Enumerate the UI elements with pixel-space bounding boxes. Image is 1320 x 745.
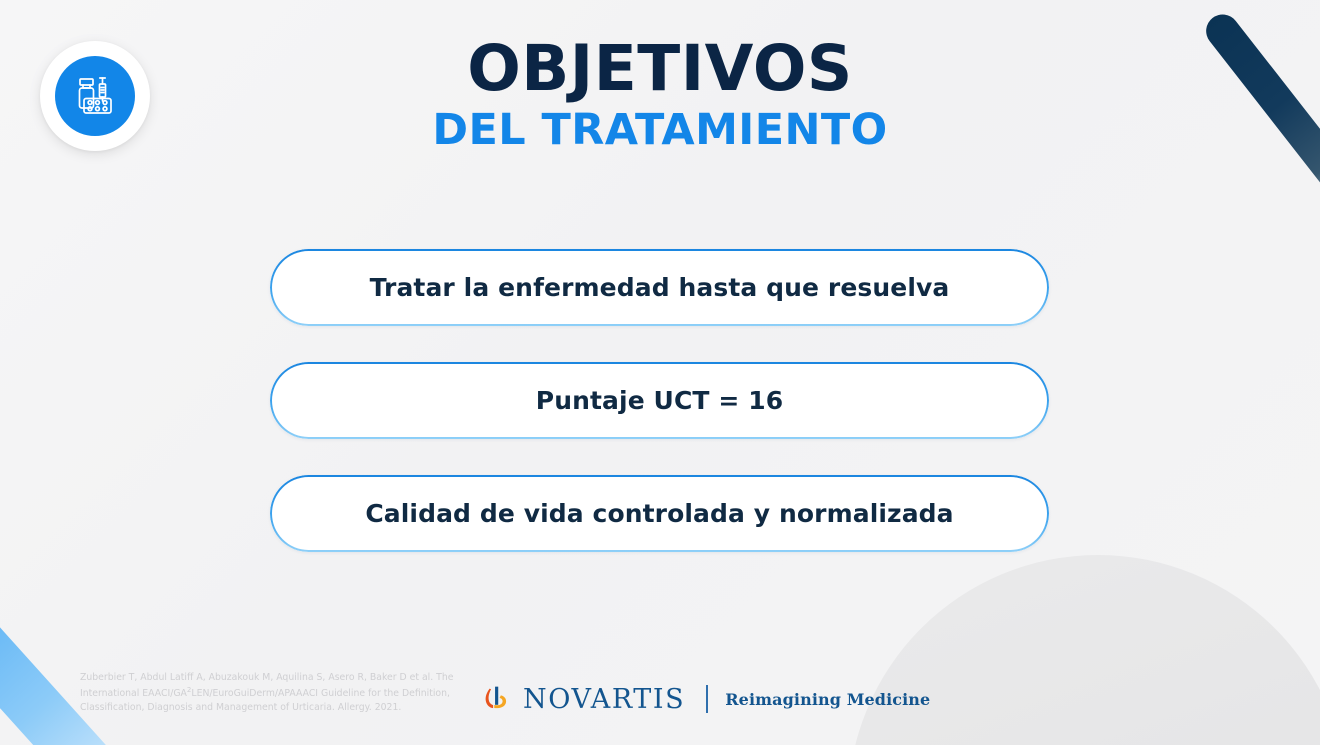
citation-line-1: Zuberbier T, Abdul Latiff A, Abuzakouk M… <box>80 672 453 683</box>
objective-label: Tratar la enfermedad hasta que resuelva <box>370 273 950 302</box>
objectives-list: Tratar la enfermedad hasta que resuelva … <box>270 249 1049 552</box>
objective-label: Puntaje UCT = 16 <box>536 386 783 415</box>
page-title-main: OBJETIVOS <box>0 36 1320 103</box>
objective-item-2: Puntaje UCT = 16 <box>270 362 1049 439</box>
objective-item-1: Tratar la enfermedad hasta que resuelva <box>270 249 1049 326</box>
citation-line-3: Classification, Diagnosis and Management… <box>80 702 401 713</box>
page-title: OBJETIVOS DEL TRATAMIENTO <box>0 36 1320 154</box>
objective-item-3: Calidad de vida controlada y normalizada <box>270 475 1049 552</box>
slide-canvas: OBJETIVOS DEL TRATAMIENTO Tratar la enfe… <box>0 0 1320 745</box>
logo-divider <box>706 685 708 713</box>
page-title-sub: DEL TRATAMIENTO <box>0 107 1320 154</box>
objective-label: Calidad de vida controlada y normalizada <box>365 499 953 528</box>
citation-line-2-pre: International EAACI/GA <box>80 688 187 699</box>
novartis-flame-icon <box>482 684 512 714</box>
citation-line-2-post: LEN/EuroGuiDerm/APAAACI Guideline for th… <box>191 688 450 699</box>
novartis-tagline: Reimagining Medicine <box>725 690 930 709</box>
novartis-wordmark: NOVARTIS <box>523 684 685 715</box>
reference-citation: Zuberbier T, Abdul Latiff A, Abuzakouk M… <box>80 671 472 715</box>
novartis-logo: NOVARTIS Reimagining Medicine <box>482 681 930 717</box>
